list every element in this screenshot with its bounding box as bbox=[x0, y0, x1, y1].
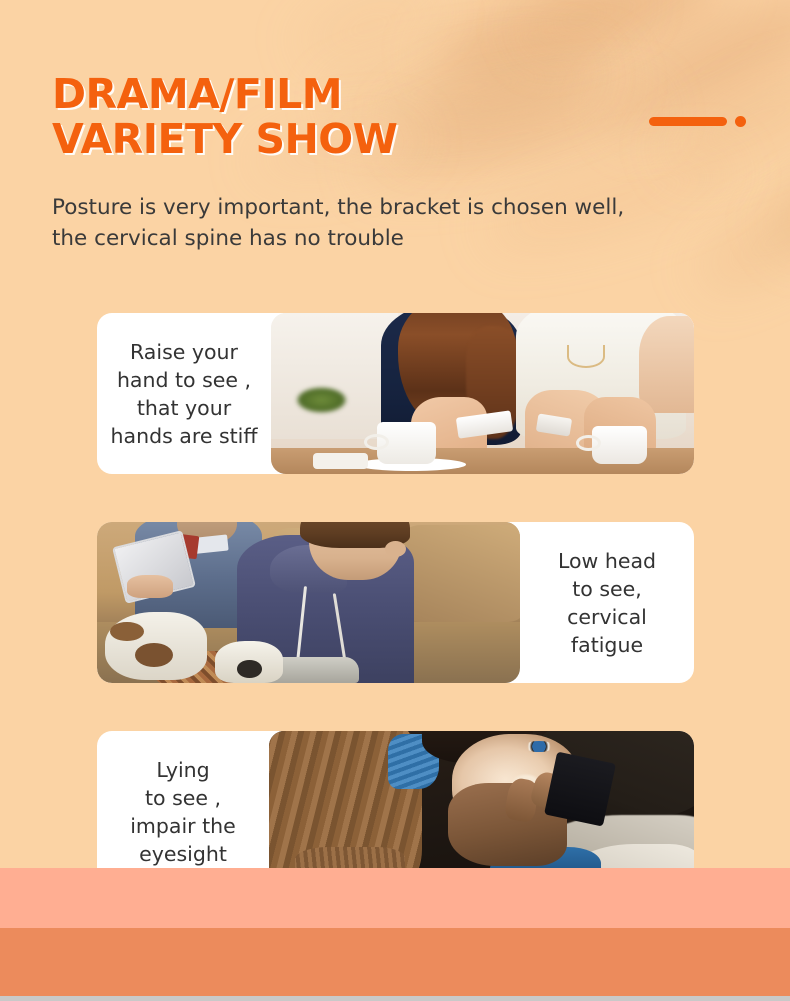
shadow-blob bbox=[425, 0, 735, 102]
card-1-caption: Raise your hand to see , that your hands… bbox=[97, 313, 271, 474]
page-title: DRAMA/FILM VARIETY SHOW bbox=[52, 72, 397, 162]
accent-rule-decoration bbox=[649, 117, 727, 126]
photo-stuffed-dog-2-spot bbox=[237, 660, 262, 678]
poster-root: DRAMA/FILM VARIETY SHOW Posture is very … bbox=[0, 0, 790, 1001]
shadow-blob bbox=[766, 90, 790, 258]
card-2-photo bbox=[97, 522, 520, 683]
content-card-1: Raise your hand to see , that your hands… bbox=[97, 313, 694, 474]
accent-dot-decoration bbox=[735, 116, 746, 127]
page-subtitle: Posture is very important, the bracket i… bbox=[52, 192, 762, 254]
photo-table-object bbox=[313, 453, 368, 469]
shadow-blob bbox=[297, 0, 442, 69]
bottom-band-light bbox=[0, 868, 790, 928]
photo-smartphone bbox=[543, 751, 615, 826]
shadow-blob bbox=[518, 0, 642, 55]
photo-necklace bbox=[567, 345, 605, 368]
card-1-photo bbox=[271, 313, 694, 474]
photo-cup-handle-1 bbox=[364, 434, 389, 450]
photo-background-wall bbox=[271, 313, 398, 439]
photo-plant bbox=[296, 387, 347, 413]
photo-stuffed-dog-spot bbox=[135, 643, 173, 667]
photo-stuffed-dog-ear bbox=[110, 622, 144, 641]
shadow-blob bbox=[357, 77, 663, 196]
card-2-caption: Low head to see, cervical fatigue bbox=[520, 522, 694, 683]
bottom-band-dark bbox=[0, 928, 790, 996]
photo-coffee-cup-2 bbox=[592, 426, 647, 465]
content-card-2: Low head to see, cervical fatigue bbox=[97, 522, 694, 683]
photo-woman-eye bbox=[524, 741, 554, 752]
footer-strip bbox=[0, 996, 790, 1001]
shadow-blob bbox=[396, 43, 624, 158]
photo-shoulder bbox=[639, 316, 694, 413]
photo-adult-hand bbox=[127, 575, 174, 598]
